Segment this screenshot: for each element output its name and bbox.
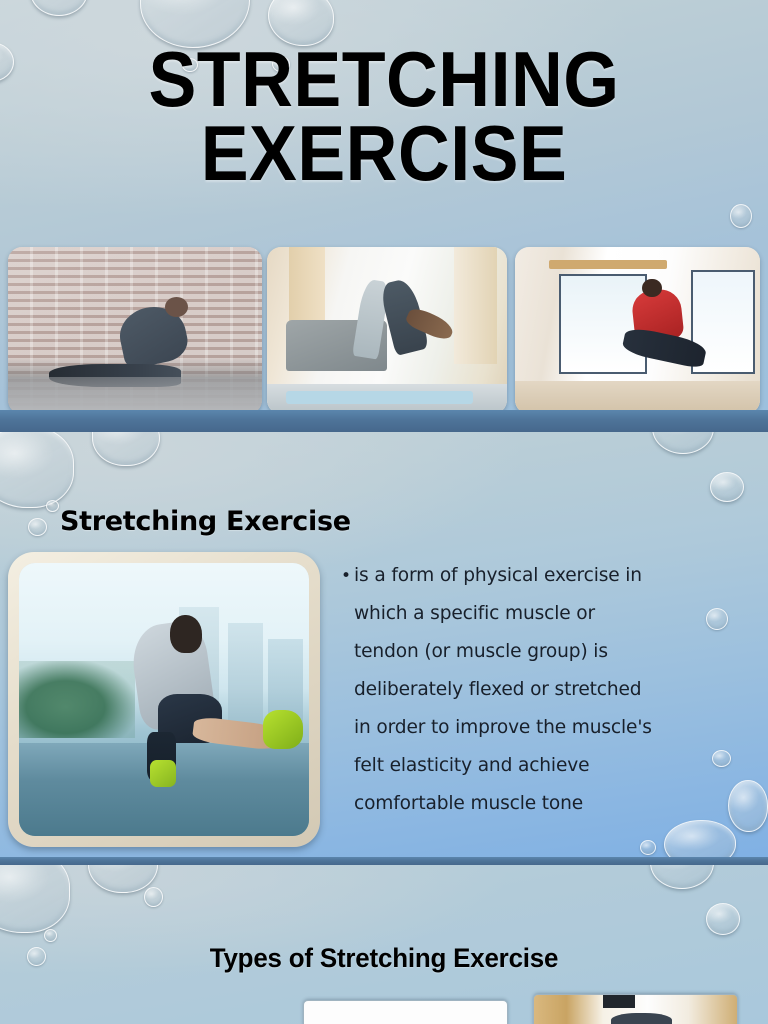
upward-dog-stretch-photo bbox=[8, 247, 262, 414]
definition-line: felt elasticity and achieve bbox=[341, 747, 715, 785]
photo-wall-rail bbox=[549, 260, 667, 268]
figure-head bbox=[642, 279, 662, 297]
title-line-2: EXERCISE bbox=[31, 116, 738, 190]
slide-types: Types of Stretching Exercise bbox=[0, 865, 768, 1024]
definition-line: in order to improve the muscle's bbox=[341, 709, 715, 747]
type-card-right bbox=[533, 994, 738, 1024]
water-droplet-icon bbox=[706, 903, 740, 935]
hamstring-stretch-photo-frame bbox=[8, 552, 320, 847]
hamstring-stretch-photo bbox=[19, 563, 309, 836]
slide-definition: Stretching Exercise • is a for bbox=[0, 432, 768, 865]
definition-line: tendon (or muscle group) is bbox=[341, 633, 715, 671]
side-lunge-stretch-photo bbox=[515, 247, 760, 414]
type-card-left bbox=[303, 1000, 508, 1024]
photo-curtain bbox=[454, 247, 497, 364]
definition-line: comfortable muscle tone bbox=[341, 785, 715, 823]
definition-line: is a form of physical exercise in bbox=[341, 557, 715, 595]
water-droplet-icon bbox=[730, 204, 752, 228]
photo-yoga-mat bbox=[286, 391, 473, 404]
photo-floor bbox=[515, 381, 760, 414]
water-droplet-icon bbox=[144, 887, 163, 907]
definition-line: deliberately flexed or stretched bbox=[341, 671, 715, 709]
photo-building bbox=[228, 623, 263, 727]
water-droplet-icon bbox=[46, 500, 59, 512]
section-heading: Stretching Exercise bbox=[60, 506, 351, 537]
section-heading: Types of Stretching Exercise bbox=[15, 943, 752, 974]
water-droplet-icon bbox=[710, 472, 744, 502]
figure-shoe bbox=[263, 710, 304, 748]
definition-line: which a specific muscle or bbox=[341, 595, 715, 633]
slide-deck-page: STRETCHING EXERCISE bbox=[0, 0, 768, 1024]
definition-paragraph: • is a form of physical exercise in whic… bbox=[341, 557, 715, 823]
water-droplet-icon bbox=[0, 432, 74, 508]
card-photo-figure bbox=[611, 1013, 672, 1024]
photo-trees bbox=[19, 661, 135, 737]
figure-shoe bbox=[150, 760, 176, 787]
figure-head bbox=[170, 615, 202, 653]
bullet-marker: • bbox=[341, 557, 351, 595]
slide-2-footer-band bbox=[0, 857, 768, 865]
slide-1-footer-band bbox=[0, 410, 768, 432]
water-droplet-icon bbox=[44, 929, 57, 942]
water-droplet-icon bbox=[640, 840, 656, 855]
photo-floor bbox=[8, 377, 262, 414]
water-droplet-icon bbox=[28, 518, 47, 536]
page-title: STRETCHING EXERCISE bbox=[31, 42, 738, 190]
card-surface bbox=[304, 1001, 507, 1024]
downward-dog-stretch-photo bbox=[267, 247, 507, 414]
water-droplet-icon bbox=[728, 780, 768, 832]
card-photo-detail bbox=[603, 995, 635, 1008]
slide-title: STRETCHING EXERCISE bbox=[0, 0, 768, 432]
